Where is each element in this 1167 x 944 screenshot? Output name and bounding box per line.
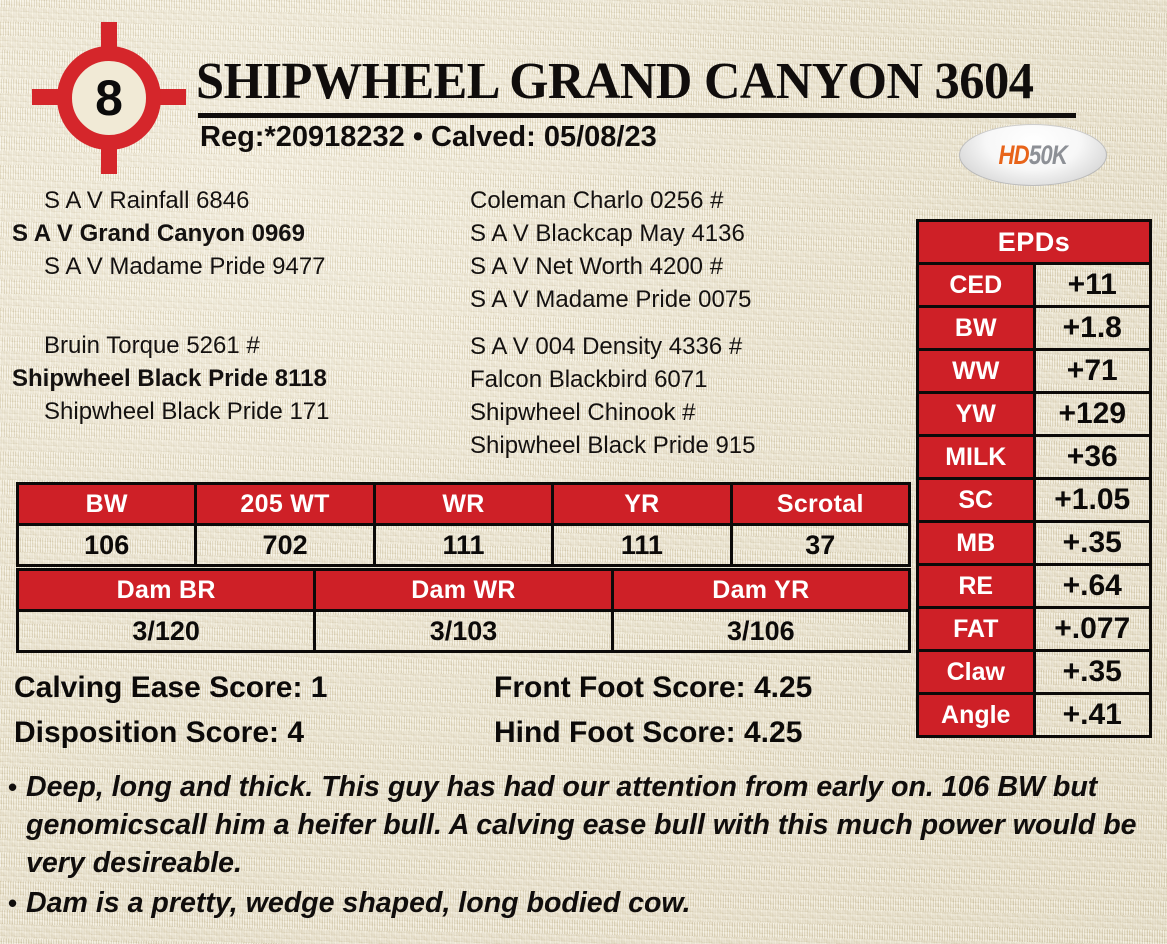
epd-value-fat: +.077 — [1034, 608, 1151, 651]
epd-value-sc: +1.05 — [1034, 479, 1151, 522]
dam-header-yr: Dam YR — [612, 570, 909, 611]
dam-ratios-table-wrapper: Dam BR Dam WR Dam YR 3/120 3/103 3/106 — [16, 568, 911, 653]
perf-value-205wt: 702 — [196, 525, 374, 566]
page-title: SHIPWHEEL GRAND CANYON 3604 — [196, 54, 1050, 110]
table-row-headers: Dam BR Dam WR Dam YR — [18, 570, 910, 611]
epd-value-ww: +71 — [1034, 350, 1151, 393]
epds-title-row: EPDs — [918, 221, 1151, 264]
table-row: MB +.35 — [918, 522, 1151, 565]
hind-foot-score: Hind Foot Score: 4.25 — [494, 710, 914, 755]
note-text-1: Deep, long and thick. This guy has had o… — [26, 768, 1143, 882]
performance-table: BW 205 WT WR YR Scrotal 106 702 111 111 … — [16, 482, 911, 567]
table-row: WW +71 — [918, 350, 1151, 393]
table-row: BW +1.8 — [918, 307, 1151, 350]
perf-header-bw: BW — [18, 484, 196, 525]
bullet-icon: • — [8, 768, 26, 882]
epd-key-milk: MILK — [918, 436, 1035, 479]
list-item: • Deep, long and thick. This guy has had… — [8, 768, 1160, 882]
epd-key-re: RE — [918, 565, 1035, 608]
front-foot-score: Front Foot Score: 4.25 — [494, 665, 914, 710]
note-text-2: Dam is a pretty, wedge shaped, long bodi… — [26, 884, 1143, 922]
epd-key-ww: WW — [918, 350, 1035, 393]
epd-value-ced: +11 — [1034, 264, 1151, 307]
table-row: YW +129 — [918, 393, 1151, 436]
registration-and-birthdate: Reg:*20918232 • Calved: 05/08/23 — [200, 120, 657, 154]
table-row: Claw +.35 — [918, 651, 1151, 694]
epd-value-milk: +36 — [1034, 436, 1151, 479]
table-row: Angle +.41 — [918, 694, 1151, 737]
table-row: FAT +.077 — [918, 608, 1151, 651]
table-row: MILK +36 — [918, 436, 1151, 479]
list-item: • Dam is a pretty, wedge shaped, long bo… — [8, 884, 1160, 922]
dam-value-br: 3/120 — [18, 611, 315, 652]
calving-ease-score: Calving Ease Score: 1 — [14, 665, 494, 710]
page-header: 8 SHIPWHEEL GRAND CANYON 3604 Reg:*20918… — [0, 0, 1167, 182]
sale-catalog-page: 8 SHIPWHEEL GRAND CANYON 3604 Reg:*20918… — [0, 0, 1167, 944]
epd-value-angle: +.41 — [1034, 694, 1151, 737]
epd-key-fat: FAT — [918, 608, 1035, 651]
pedigree-paternal-granddam: S A V Madame Pride 9477 — [0, 250, 455, 283]
dam-value-yr: 3/106 — [612, 611, 909, 652]
pedigree-ggd-1: S A V Blackcap May 4136 — [462, 217, 912, 250]
perf-header-scrotal: Scrotal — [731, 484, 909, 525]
epd-key-ced: CED — [918, 264, 1035, 307]
table-row-headers: BW 205 WT WR YR Scrotal — [18, 484, 910, 525]
dam-ratios-table: Dam BR Dam WR Dam YR 3/120 3/103 3/106 — [16, 568, 911, 653]
disposition-score: Disposition Score: 4 — [14, 710, 494, 755]
dam-value-wr: 3/103 — [315, 611, 612, 652]
pedigree-ggs-1: Coleman Charlo 0256 # — [462, 184, 912, 217]
hd50k-genomic-badge-icon: HD50K — [959, 124, 1107, 186]
epds-title: EPDs — [918, 221, 1151, 264]
epd-value-mb: +.35 — [1034, 522, 1151, 565]
notes-block: • Deep, long and thick. This guy has had… — [8, 768, 1160, 924]
perf-value-bw: 106 — [18, 525, 196, 566]
shipwheel-crosshair-logo-icon: 8 — [22, 22, 194, 174]
scores-row-2: Disposition Score: 4 Hind Foot Score: 4.… — [14, 710, 914, 755]
perf-header-yr: YR — [553, 484, 731, 525]
epd-key-sc: SC — [918, 479, 1035, 522]
title-divider — [198, 113, 1076, 118]
table-row: SC +1.05 — [918, 479, 1151, 522]
perf-header-wr: WR — [374, 484, 552, 525]
pedigree-dam: Shipwheel Black Pride 8118 — [0, 362, 455, 395]
epds-table-wrapper: EPDs CED +11 BW +1.8 WW +71 YW +129 MILK… — [916, 219, 1152, 738]
perf-value-yr: 111 — [553, 525, 731, 566]
pedigree-maternal-granddam: Shipwheel Black Pride 171 — [0, 395, 455, 428]
pedigree-ggd-4: Shipwheel Black Pride 915 — [462, 429, 912, 462]
pedigree-ggs-2: S A V Net Worth 4200 # — [462, 250, 912, 283]
epd-value-claw: +.35 — [1034, 651, 1151, 694]
perf-header-205wt: 205 WT — [196, 484, 374, 525]
epds-table: EPDs CED +11 BW +1.8 WW +71 YW +129 MILK… — [916, 219, 1152, 738]
pedigree-maternal-grandsire: Bruin Torque 5261 # — [0, 329, 455, 362]
scores-block: Calving Ease Score: 1 Front Foot Score: … — [14, 665, 914, 755]
pedigree-ggd-3: Falcon Blackbird 6071 — [462, 363, 912, 396]
epd-key-yw: YW — [918, 393, 1035, 436]
hd50k-suffix: 50K — [1029, 140, 1067, 170]
epd-key-claw: Claw — [918, 651, 1035, 694]
perf-value-scrotal: 37 — [731, 525, 909, 566]
table-row-values: 3/120 3/103 3/106 — [18, 611, 910, 652]
dam-header-br: Dam BR — [18, 570, 315, 611]
scores-row-1: Calving Ease Score: 1 Front Foot Score: … — [14, 665, 914, 710]
pedigree-ggs-3: S A V 004 Density 4336 # — [462, 330, 912, 363]
pedigree-parents-column: S A V Rainfall 6846 S A V Grand Canyon 0… — [0, 184, 455, 428]
epd-value-yw: +129 — [1034, 393, 1151, 436]
epd-value-re: +.64 — [1034, 565, 1151, 608]
table-row: CED +11 — [918, 264, 1151, 307]
epd-value-bw: +1.8 — [1034, 307, 1151, 350]
table-row: RE +.64 — [918, 565, 1151, 608]
bullet-icon: • — [8, 884, 26, 922]
performance-table-wrapper: BW 205 WT WR YR Scrotal 106 702 111 111 … — [16, 482, 911, 567]
epd-key-bw: BW — [918, 307, 1035, 350]
perf-value-wr: 111 — [374, 525, 552, 566]
hd50k-prefix: HD — [999, 140, 1029, 170]
pedigree-ggd-2: S A V Madame Pride 0075 — [462, 283, 912, 316]
epd-key-mb: MB — [918, 522, 1035, 565]
dam-header-wr: Dam WR — [315, 570, 612, 611]
epd-key-angle: Angle — [918, 694, 1035, 737]
pedigree-sire: S A V Grand Canyon 0969 — [0, 217, 455, 250]
pedigree-grandparents-column: Coleman Charlo 0256 # S A V Blackcap May… — [462, 184, 912, 462]
pedigree-ggs-4: Shipwheel Chinook # — [462, 396, 912, 429]
pedigree-paternal-grandsire: S A V Rainfall 6846 — [0, 184, 455, 217]
pedigree-block: S A V Rainfall 6846 S A V Grand Canyon 0… — [0, 184, 912, 480]
table-row-values: 106 702 111 111 37 — [18, 525, 910, 566]
lot-number: 8 — [57, 46, 161, 150]
